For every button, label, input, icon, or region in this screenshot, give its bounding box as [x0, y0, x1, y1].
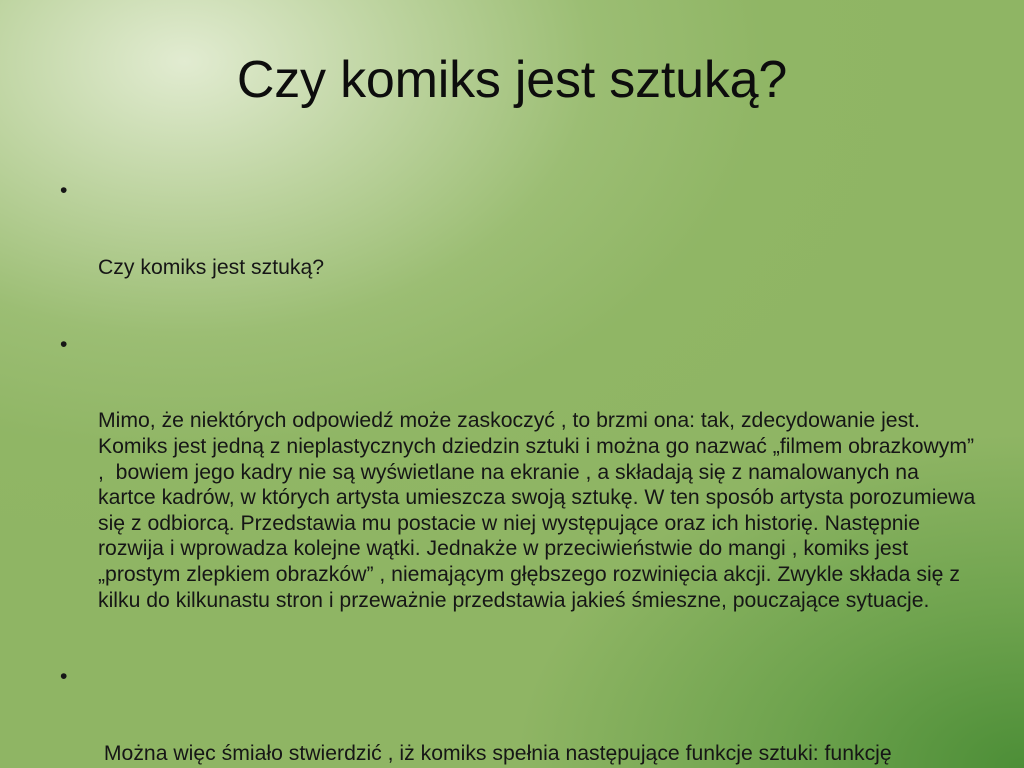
list-item-text: Czy komiks jest sztuką?	[98, 255, 982, 281]
list-item-text: Mimo, że niektórych odpowiedź może zasko…	[98, 408, 982, 613]
bullet-list: • Czy komiks jest sztuką? • Mimo, że nie…	[52, 178, 982, 768]
bullet-point-icon: •	[60, 664, 74, 690]
list-item-text: Można więc śmiało stwierdzić , iż komiks…	[98, 741, 982, 768]
list-item: • Można więc śmiało stwierdzić , iż komi…	[52, 664, 982, 768]
list-item: • Czy komiks jest sztuką?	[52, 178, 982, 332]
page-title: Czy komiks jest sztuką?	[0, 52, 1024, 109]
presentation-slide: Czy komiks jest sztuką? • Czy komiks jes…	[0, 0, 1024, 768]
bullet-point-icon: •	[60, 332, 74, 358]
slide-content-layer: Czy komiks jest sztuką? • Czy komiks jes…	[0, 0, 1024, 768]
bullet-point-icon: •	[60, 178, 74, 204]
list-item: • Mimo, że niektórych odpowiedź może zas…	[52, 332, 982, 665]
